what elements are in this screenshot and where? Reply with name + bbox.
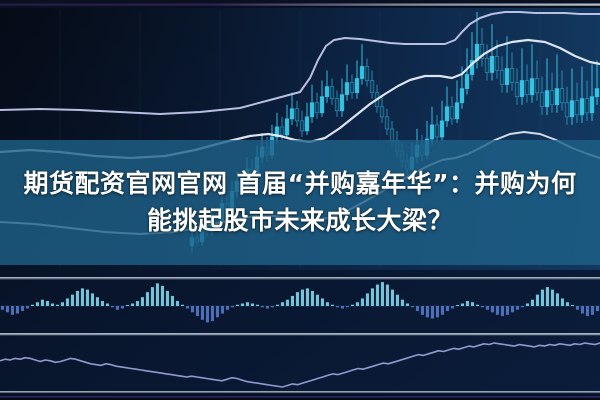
macd-bar <box>121 306 124 309</box>
macd-bar <box>346 306 349 307</box>
macd-bar <box>51 303 54 306</box>
macd-bar <box>401 300 404 306</box>
macd-bar <box>91 293 94 306</box>
macd-bar <box>126 305 129 306</box>
macd-bar <box>36 302 39 306</box>
macd-bar <box>201 306 204 320</box>
macd-bar <box>411 306 414 307</box>
macd-bar <box>196 306 199 316</box>
macd-bar <box>391 290 394 306</box>
macd-bar <box>141 297 144 306</box>
macd-bar <box>506 306 509 315</box>
macd-bar <box>16 306 19 314</box>
macd-bar <box>101 301 104 306</box>
macd-bar <box>181 305 184 306</box>
macd-bar <box>531 300 534 306</box>
macd-bar <box>216 306 219 317</box>
macd-bar <box>331 305 334 306</box>
macd-bar <box>516 306 519 310</box>
macd-bar <box>536 295 539 306</box>
macd-bar <box>66 298 69 306</box>
macd-bar <box>86 290 89 306</box>
macd-bar <box>151 287 154 306</box>
macd-bar <box>81 288 84 306</box>
macd-bar <box>176 301 179 306</box>
macd-bar <box>451 306 454 309</box>
macd-bar <box>541 290 544 306</box>
macd-bar <box>576 306 579 310</box>
macd-bar <box>256 305 259 306</box>
macd-bar <box>156 283 159 306</box>
macd-bar <box>131 303 134 306</box>
macd-bar <box>376 285 379 306</box>
macd-bar <box>236 305 239 306</box>
macd-bar <box>306 288 309 306</box>
macd-bar <box>171 296 174 306</box>
macd-bar <box>526 303 529 306</box>
macd-bar <box>291 296 294 306</box>
macd-bar <box>581 306 584 314</box>
macd-bar <box>471 302 474 306</box>
macd-bar <box>546 287 549 306</box>
macd-bar <box>591 306 594 315</box>
macd-bar <box>146 292 149 306</box>
macd-bar <box>586 306 589 316</box>
macd-bar <box>421 306 424 315</box>
macd-bar <box>596 306 599 311</box>
macd-bar <box>276 305 279 306</box>
macd-bar <box>26 306 29 309</box>
macd-bar <box>166 291 169 306</box>
macd-bar <box>556 293 559 306</box>
macd-bar <box>396 295 399 306</box>
macd-bar <box>356 302 359 306</box>
macd-bar <box>481 306 484 307</box>
macd-bar <box>271 306 274 307</box>
macd-bar <box>566 302 569 306</box>
top-accent-bar <box>0 0 600 8</box>
panel-divider-mid <box>0 333 600 336</box>
macd-bar <box>326 302 329 306</box>
macd-bar <box>61 302 64 306</box>
macd-bar <box>226 306 229 310</box>
macd-bar <box>261 306 264 307</box>
macd-bar <box>41 300 44 306</box>
macd-bar <box>136 301 139 306</box>
macd-bar <box>561 298 564 306</box>
macd-bar <box>221 306 224 314</box>
macd-bar <box>521 306 524 307</box>
macd-bar <box>486 306 489 310</box>
macd-bar <box>511 306 514 312</box>
macd-bar <box>321 298 324 306</box>
macd-bar <box>406 303 409 306</box>
macd-bar <box>21 306 24 311</box>
macd-bar <box>431 306 434 319</box>
macd-bar <box>1 306 4 310</box>
macd-bar <box>571 305 574 306</box>
macd-bar <box>341 306 344 309</box>
macd-bar <box>241 303 244 306</box>
macd-bar <box>186 306 189 309</box>
macd-bar <box>191 306 194 312</box>
macd-bar <box>426 306 429 317</box>
macd-bar <box>316 295 319 306</box>
macd-bar <box>111 306 114 307</box>
macd-bar <box>31 305 34 306</box>
panel-divider-bottom <box>0 391 600 400</box>
macd-bar <box>466 301 469 306</box>
macd-bar <box>551 290 554 306</box>
macd-bar <box>436 306 439 317</box>
macd-bar <box>296 292 299 306</box>
macd-bar <box>446 306 449 311</box>
macd-bar <box>251 303 254 306</box>
macd-bar <box>56 305 59 306</box>
macd-bar <box>311 291 314 306</box>
macd-bar <box>96 297 99 306</box>
macd-bar <box>386 285 389 306</box>
macd-bar <box>456 305 459 306</box>
macd-bar <box>501 306 504 316</box>
macd-bar <box>381 282 384 306</box>
macd-bar <box>361 298 364 306</box>
macd-bar <box>336 306 339 307</box>
macd-bar <box>461 303 464 306</box>
macd-bar <box>246 302 249 306</box>
macd-bar <box>71 295 74 306</box>
macd-bar <box>496 306 499 315</box>
macd-bar <box>6 306 9 312</box>
macd-bar <box>106 303 109 306</box>
macd-bar <box>11 306 14 315</box>
macd-bar <box>206 306 209 322</box>
macd-bar <box>476 305 479 306</box>
macd-bar <box>301 290 304 306</box>
macd-bar <box>211 306 214 321</box>
macd-bar <box>286 300 289 306</box>
macd-bar <box>441 306 444 315</box>
macd-bar <box>491 306 494 312</box>
macd-bar <box>281 302 284 306</box>
macd-bar <box>46 301 49 306</box>
stock-chart-background <box>0 0 600 400</box>
macd-bar <box>116 306 119 310</box>
macd-bar <box>266 306 269 309</box>
macd-bar <box>366 293 369 306</box>
macd-bar <box>416 306 419 311</box>
macd-bar <box>351 305 354 306</box>
macd-bar <box>161 286 164 306</box>
panel-divider-top <box>0 277 600 280</box>
macd-bar <box>231 306 234 307</box>
macd-bar <box>76 291 79 306</box>
macd-bar <box>371 288 374 306</box>
banner-image: 期货配资官网官网 首届“并购嘉年华”：并购为何 能挑起股市未来成长大梁？ <box>0 0 600 400</box>
